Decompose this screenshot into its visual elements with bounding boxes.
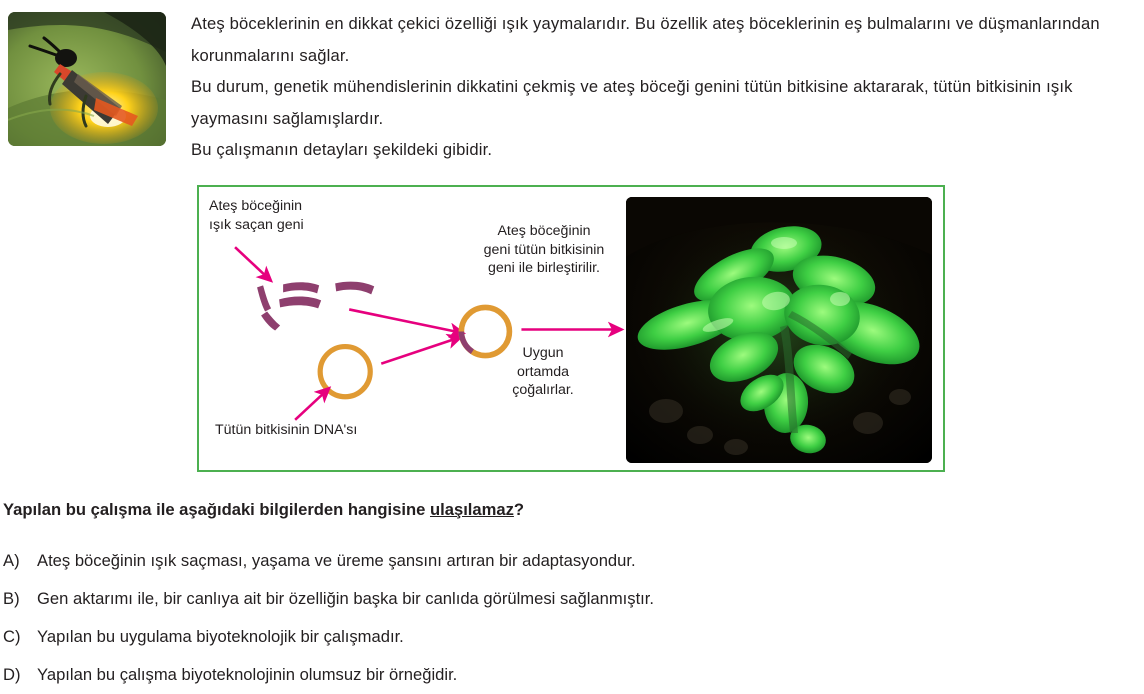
intro-block: Ateş böceklerinin en dikkat çekici özell… [0, 0, 1144, 175]
question-stem-after: ? [514, 500, 524, 519]
label-firefly-gene: Ateş böceğinin ışık saçan geni [209, 197, 304, 234]
option-text-c: Yapılan bu uygulama biyoteknolojik bir ç… [37, 618, 1133, 656]
label-multiply-in-medium: Uygun ortamda çoğalırlar. [495, 344, 591, 400]
options-list: A) Ateş böceğinin ışık saçması, yaşama v… [3, 542, 1133, 694]
option-text-b: Gen aktarımı ile, bir canlıya ait bir öz… [37, 580, 1133, 618]
intro-paragraph-line-1: Ateş böceklerinin en dikkat çekici özell… [191, 8, 1138, 71]
option-letter-d: D) [3, 656, 37, 694]
option-row-c[interactable]: C) Yapılan bu uygulama biyoteknolojik bi… [3, 618, 1133, 656]
firefly-photo-graphic [8, 12, 166, 146]
label-tobacco-dna: Tütün bitkisinin DNA'sı [215, 421, 357, 440]
option-text-a: Ateş böceğinin ışık saçması, yaşama ve ü… [37, 542, 1133, 580]
intro-paragraph-line-3: Bu çalışmanın detayları şekildeki gibidi… [191, 134, 1138, 166]
tobacco-plasmid-ring [320, 347, 370, 397]
firefly-photo [8, 12, 166, 146]
arrow-plasmid-to-combined [381, 340, 453, 364]
option-text-d: Yapılan bu çalışma biyoteknolojinin olum… [37, 656, 1133, 694]
intro-paragraph-line-2: Bu durum, genetik mühendislerinin dikkat… [191, 71, 1138, 134]
option-row-a[interactable]: A) Ateş böceğinin ışık saçması, yaşama v… [3, 542, 1133, 580]
option-letter-c: C) [3, 618, 37, 656]
option-row-d[interactable]: D) Yapılan bu çalışma biyoteknolojinin o… [3, 656, 1133, 694]
firefly-dna-fragments [257, 282, 374, 331]
arrow-fragments-to-plasmid [349, 309, 455, 331]
question-stem-keyword: ulaşılamaz [430, 500, 514, 519]
question-stem: Yapılan bu çalışma ile aşağıdaki bilgile… [3, 498, 524, 522]
glowing-plant-photo [626, 197, 932, 463]
option-row-b[interactable]: B) Gen aktarımı ile, bir canlıya ait bir… [3, 580, 1133, 618]
figure-frame: Ateş böceğinin ışık saçan geni Ateş böce… [197, 185, 945, 472]
glowing-plant-photo-graphic [626, 197, 932, 463]
option-letter-a: A) [3, 542, 37, 580]
arrow-to-firefly-gene [235, 247, 265, 275]
arrow-to-tobacco-dna [295, 394, 323, 420]
option-letter-b: B) [3, 580, 37, 618]
intro-paragraph: Ateş böceklerinin en dikkat çekici özell… [191, 8, 1138, 166]
question-stem-before: Yapılan bu çalışma ile aşağıdaki bilgile… [3, 500, 430, 519]
label-gene-merge: Ateş böceğinin geni tütün bitkisinin gen… [454, 222, 634, 278]
